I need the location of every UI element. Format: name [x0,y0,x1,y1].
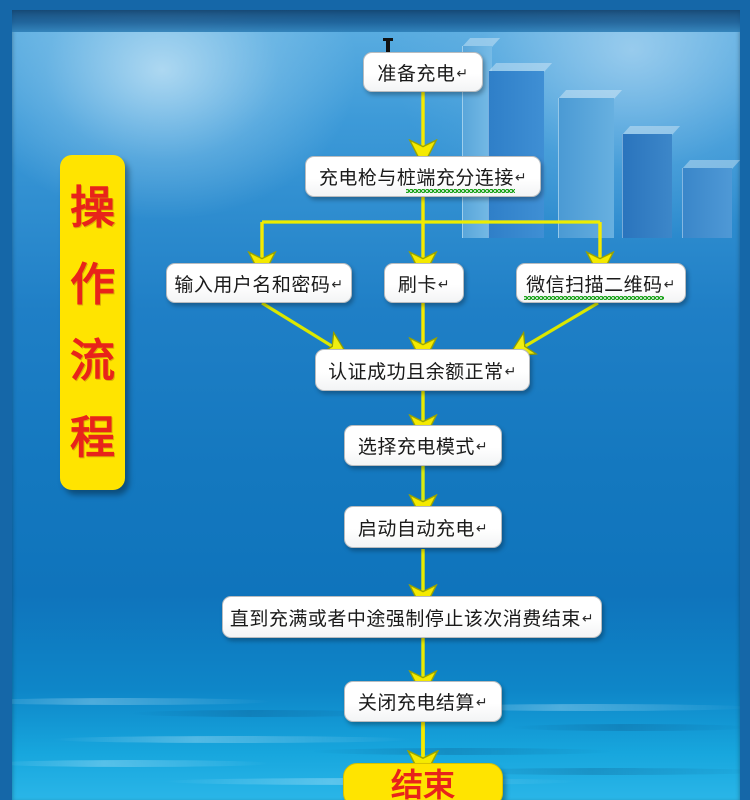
node-label: 选择充电模式↵ [354,432,492,459]
side-title-panel: 操 作 流 程 [60,155,125,490]
node-label: 准备充电↵ [373,59,472,86]
node-label: 输入用户名和密码↵ [170,270,347,297]
paragraph-mark-icon: ↵ [476,695,488,711]
node-connect-gun-to-pile[interactable]: 充电枪与桩端充分连接↵ [305,156,541,197]
node-close-and-settle[interactable]: 关闭充电结算↵ [344,681,502,722]
node-start-auto-charging[interactable]: 启动自动充电↵ [344,506,502,548]
side-title-char-1: 操 [70,185,115,230]
node-label: 关闭充电结算↵ [354,688,492,715]
node-label: 刷卡↵ [394,270,454,297]
flowchart-canvas: 操 作 流 程 准备充电↵ 充电枪与桩端充分连接↵ 输入用户名和密码↵ 刷卡↵ … [0,0,750,800]
paragraph-mark-icon: ↵ [505,364,517,380]
node-enter-username-password[interactable]: 输入用户名和密码↵ [166,263,352,303]
node-label: 认证成功且余额正常↵ [324,357,521,384]
paragraph-mark-icon: ↵ [331,277,343,293]
node-label: 微信扫描二维码↵ [522,270,680,297]
node-end-terminal[interactable]: 结束 [343,763,503,800]
node-label: 直到充满或者中途强制停止该次消费结束↵ [226,604,598,631]
node-prepare-charging[interactable]: 准备充电↵ [363,52,483,92]
paragraph-mark-icon: ↵ [456,66,468,82]
paragraph-mark-icon: ↵ [515,170,527,186]
node-swipe-card[interactable]: 刷卡↵ [384,263,464,303]
paragraph-mark-icon: ↵ [476,521,488,537]
node-label: 启动自动充电↵ [354,514,492,541]
decorative-bar-graphic [470,18,750,238]
node-charge-until-full-or-stopped[interactable]: 直到充满或者中途强制停止该次消费结束↵ [222,596,602,638]
node-select-charge-mode[interactable]: 选择充电模式↵ [344,425,502,466]
side-title-char-3: 流 [70,338,115,383]
node-label: 充电枪与桩端充分连接↵ [315,163,531,190]
node-label: 结束 [391,769,455,800]
paragraph-mark-icon: ↵ [438,277,450,293]
paragraph-mark-icon: ↵ [582,611,594,627]
paragraph-mark-icon: ↵ [476,439,488,455]
side-title-char-2: 作 [70,262,115,307]
side-title-char-4: 程 [70,415,115,460]
paragraph-mark-icon: ↵ [664,277,676,293]
node-wechat-scan-qr[interactable]: 微信扫描二维码↵ [516,263,686,303]
node-auth-success-balance-ok[interactable]: 认证成功且余额正常↵ [315,349,530,391]
